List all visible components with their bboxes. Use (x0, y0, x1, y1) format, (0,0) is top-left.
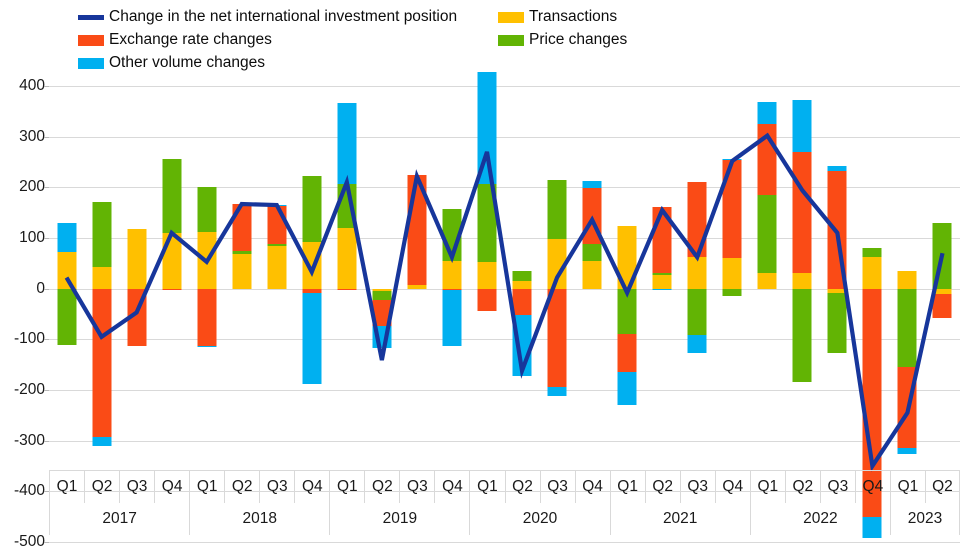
bar-segment[interactable] (723, 159, 742, 160)
bar-segment[interactable] (232, 251, 251, 254)
x-axis-year-label: 2018 (189, 503, 329, 535)
bar-segment[interactable] (863, 257, 882, 288)
x-axis-year-label: 2023 (890, 503, 960, 535)
bar-segment[interactable] (548, 289, 567, 388)
bar-segment[interactable] (583, 181, 602, 188)
x-axis-year-label: 2020 (469, 503, 609, 535)
legend-item-label: Price changes (529, 32, 627, 48)
bar-segment[interactable] (618, 226, 637, 289)
chart-legend: Change in the net international investme… (0, 0, 960, 72)
legend-swatch-icon (78, 58, 104, 69)
x-axis-quarter-label: Q3 (399, 470, 434, 503)
bar-segment[interactable] (302, 176, 321, 242)
bar-segment[interactable] (337, 289, 356, 290)
bar-segment[interactable] (92, 267, 111, 289)
bar-segment[interactable] (548, 387, 567, 395)
bar-segment[interactable] (127, 229, 146, 288)
bar-segment[interactable] (232, 204, 251, 251)
bar-segment[interactable] (758, 124, 777, 195)
bar-segment[interactable] (197, 232, 216, 288)
legend-item[interactable]: Exchange rate changes (78, 29, 457, 51)
bar-segment[interactable] (407, 285, 426, 289)
x-axis-year-label: 2019 (329, 503, 469, 535)
bar-segment[interactable] (162, 233, 181, 289)
bar-segment[interactable] (618, 334, 637, 372)
bar-segment[interactable] (197, 289, 216, 346)
bar-segment[interactable] (723, 160, 742, 258)
bar-segment[interactable] (653, 275, 672, 289)
bar-segment[interactable] (442, 261, 461, 288)
bar-segment[interactable] (688, 257, 707, 288)
bar-segment[interactable] (758, 195, 777, 274)
x-axis-quarter-label: Q2 (224, 470, 259, 503)
bar-segment[interactable] (267, 206, 286, 244)
bar-segment[interactable] (513, 315, 532, 376)
bar-segment[interactable] (688, 289, 707, 335)
bar-segment[interactable] (372, 300, 391, 325)
bar-segment[interactable] (723, 289, 742, 296)
bar-segment[interactable] (197, 187, 216, 232)
bar-segment[interactable] (477, 262, 496, 288)
bar-segment[interactable] (372, 326, 391, 348)
bar-segment[interactable] (898, 289, 917, 368)
bar-segment[interactable] (302, 242, 321, 289)
legend-item-label: Other volume changes (109, 55, 265, 71)
bar-segment[interactable] (337, 103, 356, 185)
bar-segment[interactable] (162, 289, 181, 290)
bar-segment[interactable] (863, 248, 882, 257)
x-axis-quarter-label: Q1 (49, 470, 84, 503)
bar-segment[interactable] (898, 367, 917, 448)
bar-segment[interactable] (513, 281, 532, 289)
bar-segment[interactable] (513, 289, 532, 315)
bar-segment[interactable] (793, 152, 812, 274)
legend-item-label: Exchange rate changes (109, 32, 272, 48)
bar-segment[interactable] (828, 293, 847, 353)
legend-swatch-icon (498, 35, 524, 46)
bar-segment[interactable] (653, 207, 672, 274)
bar-segment[interactable] (723, 258, 742, 288)
chart-container: Change in the net international investme… (0, 0, 960, 547)
x-axis-year-label: 2022 (750, 503, 890, 535)
legend-item-label: Transactions (529, 9, 617, 25)
legend-swatch-icon (78, 35, 104, 46)
x-axis-quarter-label: Q2 (84, 470, 119, 503)
bar-segment[interactable] (793, 100, 812, 152)
bar-segment[interactable] (898, 271, 917, 289)
legend-item-label: Change in the net international investme… (109, 9, 457, 25)
y-axis-tick-label: 200 (1, 179, 45, 195)
legend-item[interactable]: Other volume changes (78, 52, 457, 74)
bar-segment[interactable] (688, 182, 707, 257)
bar-segment[interactable] (407, 175, 426, 284)
y-axis-tick-label: -500 (1, 534, 45, 550)
bar-segment[interactable] (267, 244, 286, 246)
bar-segment[interactable] (57, 252, 76, 288)
bar-segment[interactable] (933, 223, 952, 289)
x-axis-quarter-label: Q1 (750, 470, 785, 503)
bar-segment[interactable] (337, 228, 356, 288)
x-axis-quarter-label: Q1 (189, 470, 224, 503)
bar-segment[interactable] (933, 294, 952, 318)
x-axis-quarter-label: Q4 (575, 470, 610, 503)
bar-segment[interactable] (828, 171, 847, 289)
legend-column-left: Change in the net international investme… (78, 6, 457, 75)
x-axis-quarter-label: Q4 (855, 470, 890, 503)
bar-segment[interactable] (513, 271, 532, 281)
bar-segment[interactable] (828, 166, 847, 171)
legend-item[interactable]: Price changes (498, 29, 627, 51)
y-axis: 4003002001000-100-200-300-400-500 (0, 86, 45, 542)
legend-item[interactable]: Change in the net international investme… (78, 6, 457, 28)
bar-segment[interactable] (477, 184, 496, 263)
bar-segment[interactable] (267, 246, 286, 289)
bar-segment[interactable] (758, 273, 777, 288)
x-axis: Q1Q2Q3Q4Q1Q2Q3Q4Q1Q2Q3Q4Q1Q2Q3Q4Q1Q2Q3Q4… (49, 470, 960, 547)
bar-segment[interactable] (548, 180, 567, 239)
bar-segment[interactable] (92, 289, 111, 437)
bar-segment[interactable] (372, 291, 391, 300)
bar-segment[interactable] (92, 202, 111, 267)
bar-segment[interactable] (758, 102, 777, 124)
y-axis-tick-label: 0 (1, 281, 45, 297)
bar-segment[interactable] (793, 289, 812, 383)
bar-segment[interactable] (653, 273, 672, 275)
x-axis-quarter-label: Q3 (680, 470, 715, 503)
quarter-label-row: Q1Q2Q3Q4Q1Q2Q3Q4Q1Q2Q3Q4Q1Q2Q3Q4Q1Q2Q3Q4… (49, 470, 960, 503)
bar-segment[interactable] (583, 261, 602, 288)
bar-segment[interactable] (477, 289, 496, 312)
bar-segment[interactable] (618, 372, 637, 405)
y-axis-tick-label: 400 (1, 78, 45, 94)
x-axis-quarter-label: Q1 (610, 470, 645, 503)
bar-segment[interactable] (162, 159, 181, 233)
y-axis-tick-label: -300 (1, 433, 45, 449)
y-axis-tick-label: -100 (1, 331, 45, 347)
x-axis-year-label: 2017 (49, 503, 189, 535)
bar-segment[interactable] (653, 289, 672, 290)
x-axis-quarter-label: Q1 (890, 470, 925, 503)
bar-segment[interactable] (267, 205, 286, 206)
legend-column-right: TransactionsPrice changes (498, 6, 627, 52)
bar-segment[interactable] (442, 209, 461, 262)
bar-segment[interactable] (477, 72, 496, 183)
x-axis-quarter-label: Q4 (434, 470, 469, 503)
bar-segment[interactable] (92, 437, 111, 446)
bar-segment[interactable] (127, 289, 146, 346)
x-axis-quarter-label: Q1 (469, 470, 504, 503)
bar-segment[interactable] (898, 448, 917, 454)
x-axis-quarter-label: Q4 (715, 470, 750, 503)
x-axis-quarter-label: Q2 (925, 470, 960, 503)
bar-segment[interactable] (232, 254, 251, 288)
bar-segment[interactable] (618, 289, 637, 335)
bar-segment[interactable] (57, 223, 76, 252)
legend-swatch-icon (78, 15, 104, 20)
x-axis-quarter-label: Q1 (329, 470, 364, 503)
x-axis-quarter-label: Q3 (540, 470, 575, 503)
y-axis-tick-label: 300 (1, 129, 45, 145)
x-axis-quarter-label: Q2 (505, 470, 540, 503)
y-axis-tick-label: 100 (1, 230, 45, 246)
bar-segment[interactable] (197, 346, 216, 347)
x-axis-year-label: 2021 (610, 503, 750, 535)
y-axis-tick-label: -400 (1, 483, 45, 499)
legend-swatch-icon (498, 12, 524, 23)
y-axis-tick-label: -200 (1, 382, 45, 398)
bar-segment[interactable] (583, 188, 602, 244)
bar-segment[interactable] (548, 239, 567, 289)
x-axis-quarter-label: Q3 (119, 470, 154, 503)
x-axis-quarter-label: Q4 (294, 470, 329, 503)
bar-segment[interactable] (793, 273, 812, 288)
x-axis-quarter-label: Q2 (785, 470, 820, 503)
bar-segment[interactable] (57, 289, 76, 346)
x-axis-quarter-label: Q3 (820, 470, 855, 503)
year-label-row: 2017201820192020202120222023 (49, 503, 960, 535)
bar-segment[interactable] (688, 335, 707, 353)
bar-segment[interactable] (583, 244, 602, 261)
x-axis-quarter-label: Q3 (259, 470, 294, 503)
x-axis-quarter-label: Q2 (645, 470, 680, 503)
x-axis-quarter-label: Q2 (364, 470, 399, 503)
bar-segment[interactable] (442, 290, 461, 346)
bar-segment[interactable] (302, 293, 321, 385)
legend-item[interactable]: Transactions (498, 6, 627, 28)
x-axis-quarter-label: Q4 (154, 470, 189, 503)
bar-segment[interactable] (337, 184, 356, 228)
